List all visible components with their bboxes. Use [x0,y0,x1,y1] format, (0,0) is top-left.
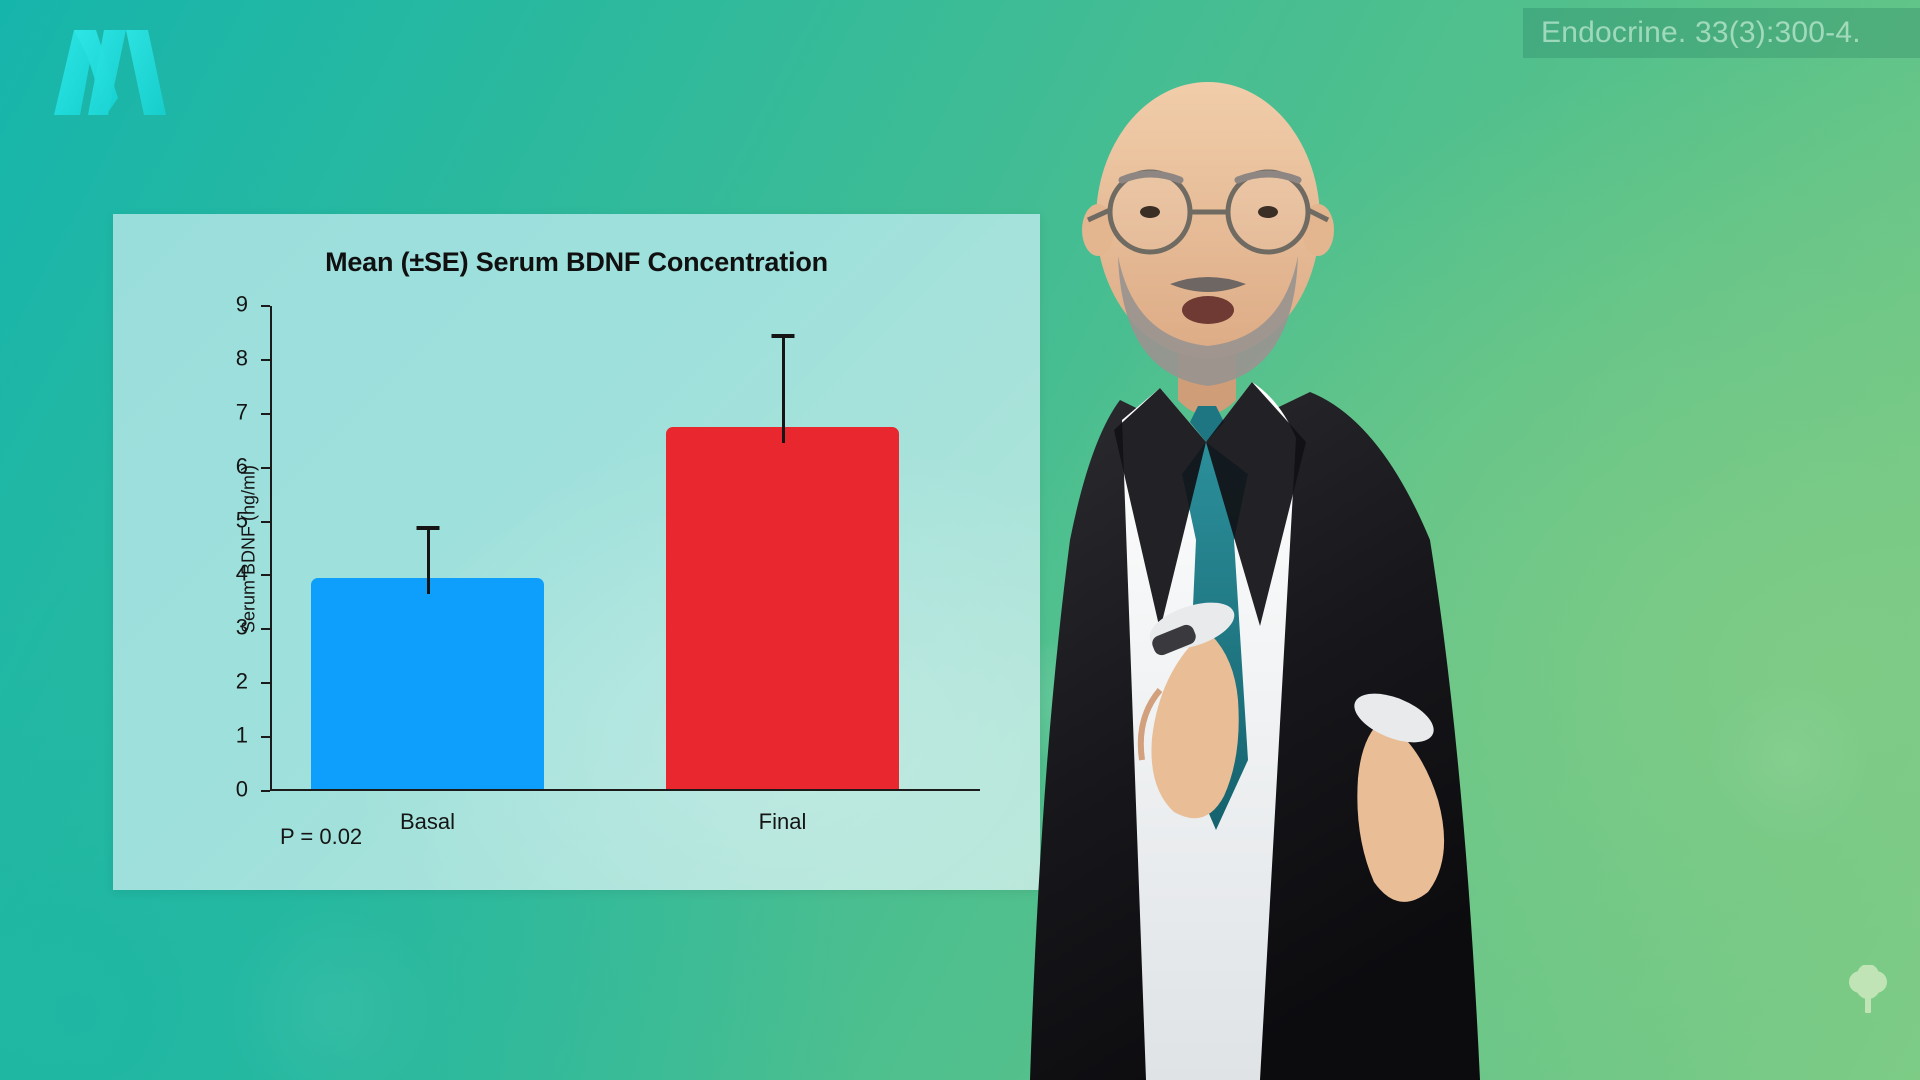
error-bar-final [782,338,785,443]
y-axis-tick-label: 3 [236,615,248,641]
y-axis-tick: 8 [261,359,270,361]
chart-panel: Mean (±SE) Serum BDNF Concentration Seru… [113,214,1040,890]
y-axis-tick-label: 8 [236,345,248,371]
y-axis-tick: 1 [261,736,270,738]
y-axis-tick: 5 [261,521,270,523]
y-axis-tick: 3 [261,628,270,630]
slide-stage: Endocrine. 33(3):300-4. Mean (±SE) Serum… [0,0,1920,1080]
y-axis-tick-label: 4 [236,561,248,587]
x-axis-label-basal: Basal [400,809,455,835]
y-axis-tick: 0 [261,790,270,792]
y-axis-tick-label: 6 [236,453,248,479]
citation-text: Endocrine. 33(3):300-4. [1541,16,1861,50]
y-axis-label: Serum BDNF (ng/ml) [239,464,260,632]
y-axis-tick: 6 [261,467,270,469]
citation-banner: Endocrine. 33(3):300-4. [1523,8,1920,58]
y-axis-line [270,306,272,791]
y-axis-tick: 9 [261,305,270,307]
y-axis-tick: 2 [261,682,270,684]
y-axis-tick-label: 7 [236,399,248,425]
x-axis-label-final: Final [759,809,807,835]
tree-icon[interactable] [1845,965,1891,1015]
y-axis-tick-label: 1 [236,723,248,749]
y-axis-tick: 7 [261,413,270,415]
error-cap-basal [416,526,439,530]
y-axis-tick-label: 2 [236,669,248,695]
nutritionfacts-n-logo[interactable] [44,20,174,120]
p-value-annotation: P = 0.02 [280,824,362,850]
bar-basal [311,578,544,789]
y-axis-tick-label: 0 [236,776,248,802]
y-axis-tick-label: 9 [236,291,248,317]
y-axis-tick: 4 [261,574,270,576]
error-cap-final [771,334,794,338]
error-bar-basal [427,530,430,594]
plot-area: Serum BDNF (ng/ml) 9876543210 BasalFinal [270,306,980,791]
chart-title: Mean (±SE) Serum BDNF Concentration [113,247,1040,278]
y-axis-tick-label: 5 [236,507,248,533]
x-axis-line [270,789,980,791]
bar-final [666,427,899,789]
